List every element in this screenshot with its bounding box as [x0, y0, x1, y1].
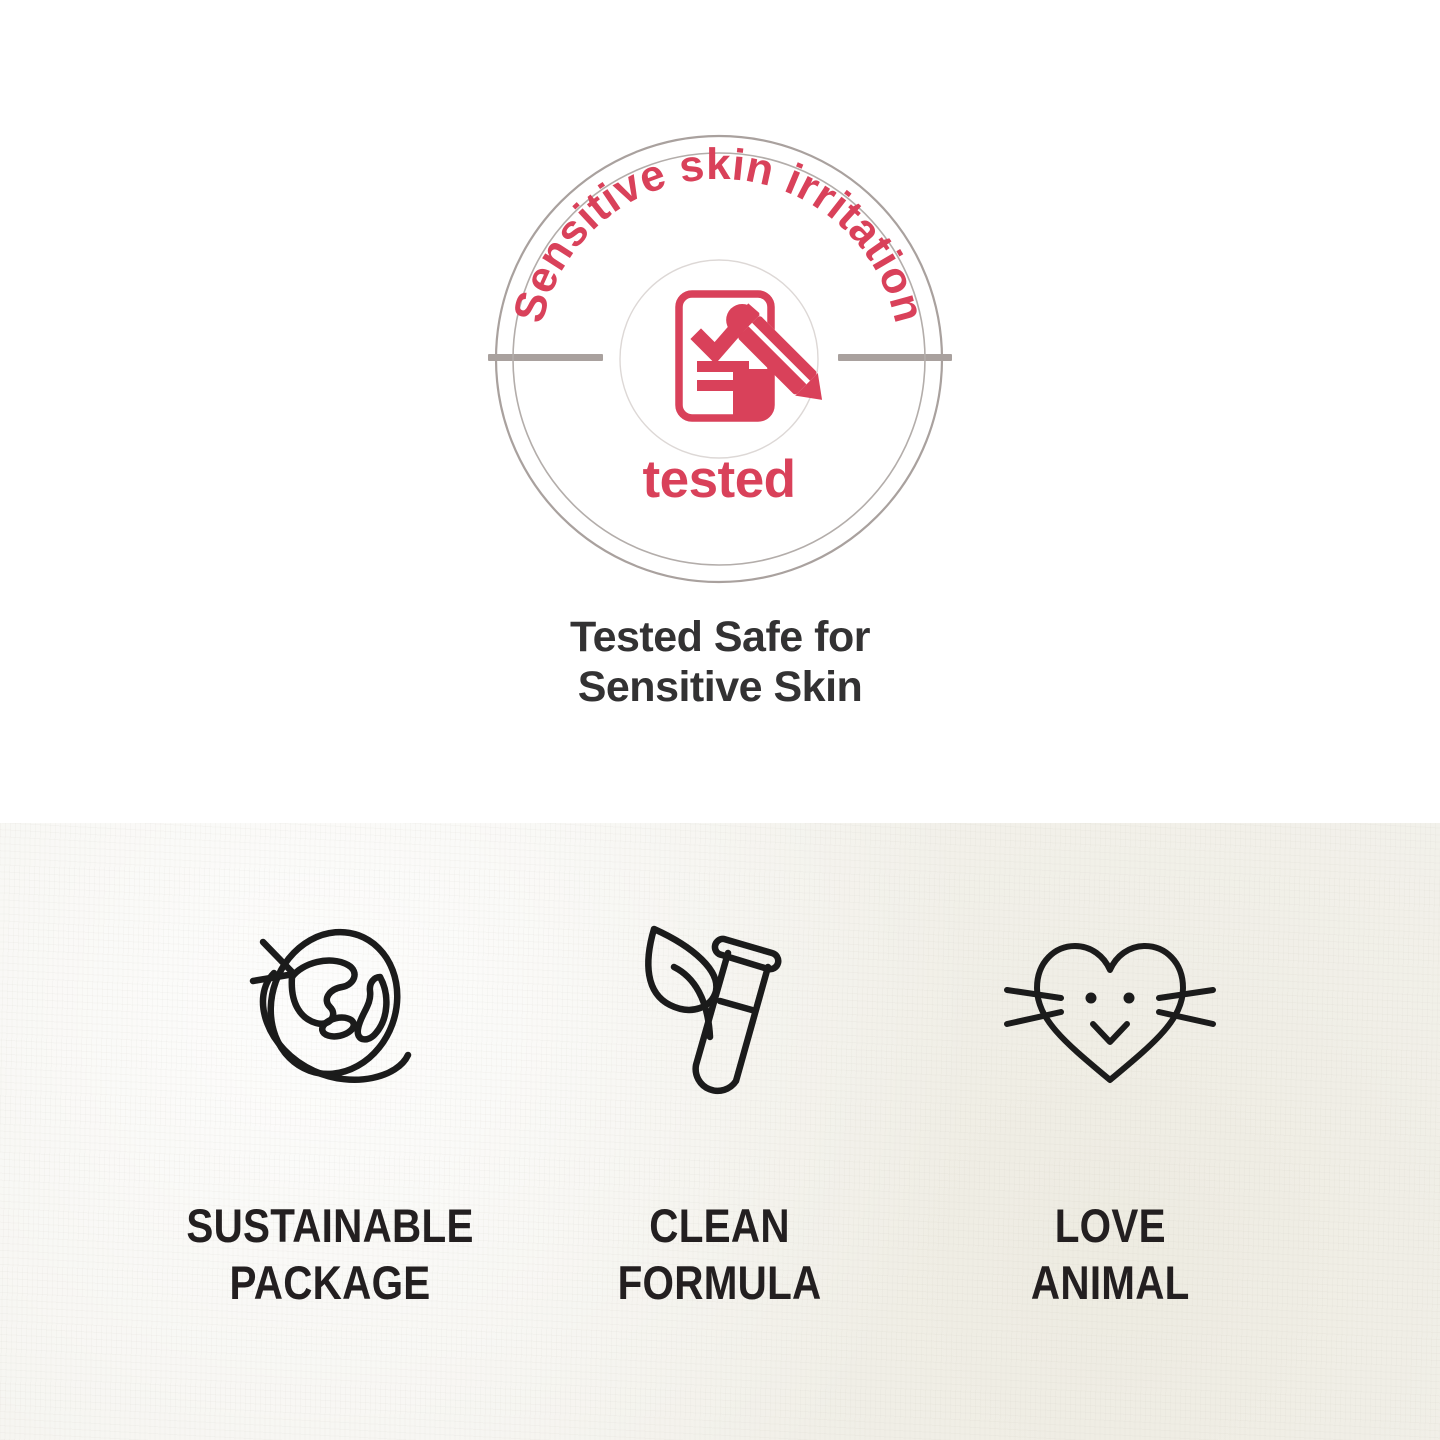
- feature-label-line-2: FORMULA: [618, 1254, 822, 1311]
- feature-label-line-2: PACKAGE: [186, 1254, 473, 1311]
- feature-label-line-1: CLEAN: [618, 1197, 822, 1254]
- feature-label-sustainable-package: SUSTAINABLE PACKAGE: [186, 1197, 473, 1312]
- feature-label-line-1: SUSTAINABLE: [186, 1197, 473, 1254]
- sensitive-skin-tested-badge: Sensitive skin irritation tested: [494, 134, 944, 584]
- feature-love-animal: LOVE ANIMAL: [915, 823, 1305, 1312]
- feature-label-line-2: ANIMAL: [1031, 1254, 1190, 1311]
- feature-label-clean-formula: CLEAN FORMULA: [618, 1197, 822, 1312]
- feature-sustainable-package: SUSTAINABLE PACKAGE: [135, 823, 525, 1312]
- feature-clean-formula: CLEAN FORMULA: [525, 823, 915, 1312]
- heart-animal-face-icon: [1003, 905, 1218, 1115]
- page-title: Tested Safe for Sensitive Skin: [0, 612, 1440, 713]
- page-root: Sensitive skin irritation tested: [0, 0, 1440, 1440]
- globe-orbit-icon: [230, 905, 430, 1115]
- feature-label-line-1: LOVE: [1031, 1197, 1190, 1254]
- tested-safe-section: Sensitive skin irritation tested: [0, 0, 1440, 823]
- leaf-test-tube-icon: [628, 905, 813, 1115]
- page-title-line-2: Sensitive Skin: [0, 662, 1440, 712]
- badge-bottom-text: tested: [642, 450, 795, 509]
- feature-label-love-animal: LOVE ANIMAL: [1031, 1197, 1190, 1312]
- feature-list: SUSTAINABLE PACKAGE: [0, 823, 1440, 1440]
- page-title-line-1: Tested Safe for: [0, 612, 1440, 662]
- values-section: SUSTAINABLE PACKAGE: [0, 823, 1440, 1440]
